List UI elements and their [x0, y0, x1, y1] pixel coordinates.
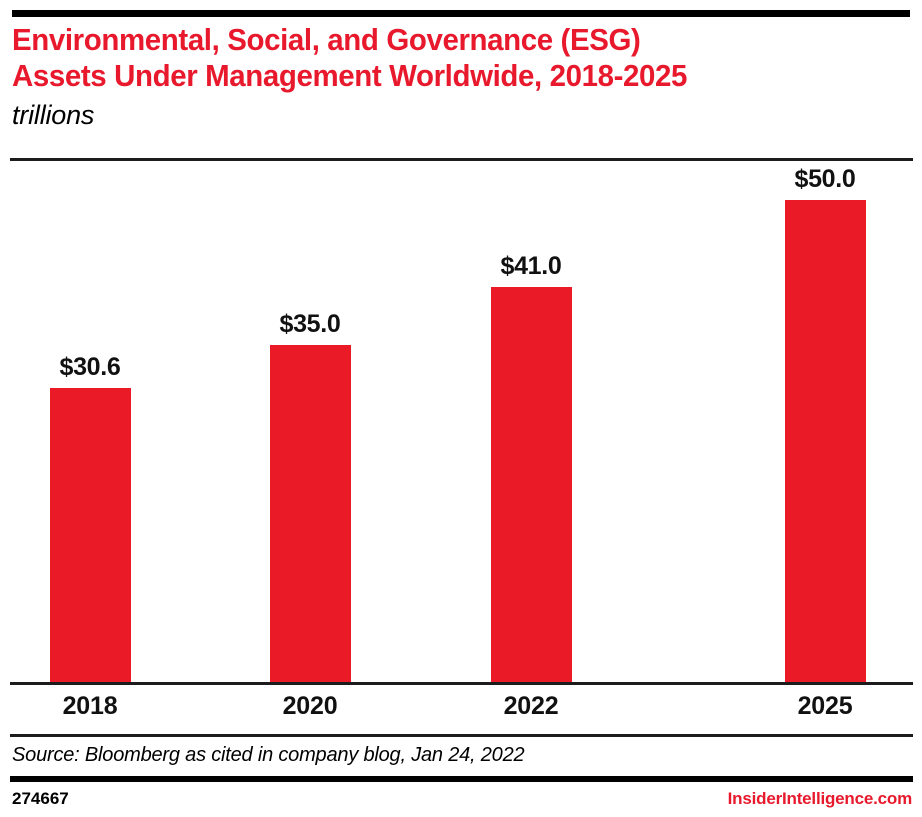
bar-2020[interactable] [270, 345, 351, 684]
bar-group: $41.0 [491, 287, 572, 684]
x-tick-label-2020: 2020 [230, 692, 391, 721]
footer-rule [10, 776, 913, 782]
chart-card: Environmental, Social, and Governance (E… [0, 0, 922, 817]
bar-2025[interactable] [785, 200, 866, 684]
bar-value-label: $35.0 [230, 310, 391, 339]
plot-area: $30.6$35.0$41.0$50.0 [10, 161, 913, 684]
chart-subtitle: trillions [12, 100, 910, 130]
bar-2018[interactable] [50, 388, 131, 684]
bar-group: $50.0 [785, 200, 866, 684]
source-note: Source: Bloomberg as cited in company bl… [12, 744, 524, 767]
page-title: Environmental, Social, and Governance (E… [12, 22, 865, 94]
bar-value-label: $41.0 [451, 252, 612, 281]
bar-group: $30.6 [50, 388, 131, 684]
header-block: Environmental, Social, and Governance (E… [12, 22, 910, 130]
bar-value-label: $50.0 [745, 165, 906, 194]
x-tick-label-2025: 2025 [745, 692, 906, 721]
header-top-rule [12, 10, 910, 17]
x-tick-label-2018: 2018 [10, 692, 171, 721]
chart-id: 274667 [12, 789, 69, 809]
source-top-rule [10, 734, 913, 737]
bar-value-label: $30.6 [10, 353, 171, 382]
x-tick-label-2022: 2022 [451, 692, 612, 721]
bar-2022[interactable] [491, 287, 572, 684]
brand-link[interactable]: InsiderIntelligence.com [728, 789, 912, 809]
bar-group: $35.0 [270, 345, 351, 684]
x-axis-line [10, 682, 913, 685]
